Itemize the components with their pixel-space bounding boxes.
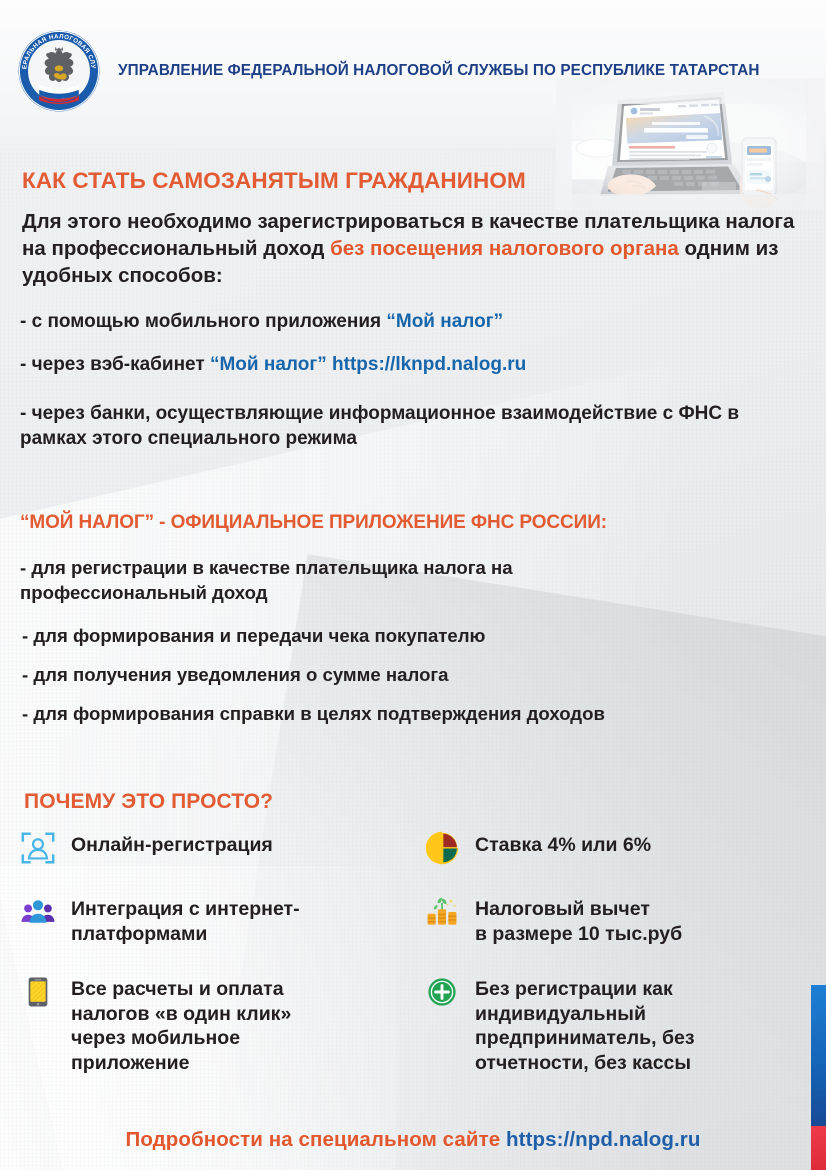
green-plus-icon xyxy=(422,972,462,1012)
benefit-line: через мобильное xyxy=(71,1026,291,1051)
benefits-row: Онлайн-регистрация Ставка xyxy=(18,828,810,892)
benefit-line: индивидуальный xyxy=(475,1002,695,1027)
benefit-line: Интеграция с интернет- xyxy=(71,897,300,922)
benefit-no-ip-registration: Без регистрации как индивидуальный предп… xyxy=(422,972,810,1092)
benefit-line: отчетности, без кассы xyxy=(475,1051,695,1076)
benefit-line: налогов «в один клик» xyxy=(71,1002,291,1027)
content: КАК СТАТЬ САМОЗАНЯТЫМ ГРАЖДАНИНОМ Для эт… xyxy=(0,0,826,1170)
benefit-text: Налоговый вычет в размере 10 тыс.руб xyxy=(475,892,682,946)
benefit-line: предприниматель, без xyxy=(475,1026,695,1051)
benefit-line: платформами xyxy=(71,922,300,947)
benefit-text: Без регистрации как индивидуальный предп… xyxy=(475,972,695,1075)
app-feature-notification: - для получения уведомления о сумме нало… xyxy=(22,663,808,688)
lead-highlight: без посещения налогового органа xyxy=(330,237,679,260)
app-section-title: “МОЙ НАЛОГ” - ОФИЦИАЛЬНОЕ ПРИЛОЖЕНИЕ ФНС… xyxy=(20,512,607,534)
page-title: КАК СТАТЬ САМОЗАНЯТЫМ ГРАЖДАНИНОМ xyxy=(22,168,526,194)
benefit-text: Онлайн-регистрация xyxy=(71,828,273,858)
footer-url[interactable]: https://npd.nalog.ru xyxy=(506,1128,700,1151)
money-growth-icon xyxy=(422,892,462,932)
method-item-mobile-app: - с помощью мобильного приложения “Мой н… xyxy=(20,310,810,335)
benefit-text: Ставка 4% или 6% xyxy=(475,828,651,858)
footer: Подробности на специальном сайте https:/… xyxy=(0,1128,826,1152)
method-item-web-cabinet: - через вэб-кабинет “Мой налог” https://… xyxy=(20,353,810,378)
pie-chart-icon xyxy=(422,828,462,868)
benefit-line: Ставка 4% или 6% xyxy=(475,833,651,858)
lead-paragraph: Для этого необходимо зарегистрироваться … xyxy=(22,208,810,289)
benefits-row: Все расчеты и оплата налогов «в один кли… xyxy=(18,972,810,1092)
method-link[interactable]: “Мой налог” xyxy=(386,311,503,332)
app-feature-certificate: - для формирования справки в целях подтв… xyxy=(22,702,808,727)
benefit-line: приложение xyxy=(71,1051,291,1076)
benefits-row: Интеграция с интернет- платформами xyxy=(18,892,810,972)
method-text: - с помощью мобильного приложения xyxy=(20,311,386,332)
smartphone-icon xyxy=(18,972,58,1012)
method-text: - через вэб-кабинет xyxy=(20,354,210,375)
benefit-tax-deduction: Налоговый вычет в размере 10 тыс.руб xyxy=(422,892,810,972)
app-feature-line1: - для регистрации в качестве плательщика… xyxy=(20,556,806,581)
benefit-line: Онлайн-регистрация xyxy=(71,833,273,858)
app-feature-receipt: - для формирования и передачи чека покуп… xyxy=(22,624,808,649)
benefit-online-registration: Онлайн-регистрация xyxy=(18,828,422,892)
method-item-banks: - через банки, осуществляющие информацио… xyxy=(20,402,810,451)
benefit-text: Интеграция с интернет- платформами xyxy=(71,892,300,946)
app-feature-line2: профессиональный доход xyxy=(20,581,806,606)
benefit-tax-rate: Ставка 4% или 6% xyxy=(422,828,810,892)
why-section-title: ПОЧЕМУ ЭТО ПРОСТО? xyxy=(24,790,273,814)
poster-root: ФЕДЕРАЛЬНАЯ НАЛОГОВАЯ СЛУЖБА xyxy=(0,0,826,1170)
benefit-line: Без регистрации как xyxy=(475,977,695,1002)
benefit-text: Все расчеты и оплата налогов «в один кли… xyxy=(71,972,291,1075)
method-link-lknpd[interactable]: “Мой налог” https://lknpd.nalog.ru xyxy=(210,354,526,375)
benefit-line: Все расчеты и оплата xyxy=(71,977,291,1002)
benefit-line: в размере 10 тыс.руб xyxy=(475,922,682,947)
benefit-line: Налоговый вычет xyxy=(475,897,682,922)
benefit-one-click-payment: Все расчеты и оплата налогов «в один кли… xyxy=(18,972,422,1092)
benefit-platform-integration: Интеграция с интернет- платформами xyxy=(18,892,422,972)
online-registration-icon xyxy=(18,828,58,868)
method-text: - через банки, осуществляющие информацио… xyxy=(20,403,739,449)
app-feature-registration: - для регистрации в качестве плательщика… xyxy=(20,556,806,605)
footer-text: Подробности на специальном сайте xyxy=(125,1128,506,1151)
people-group-icon xyxy=(18,892,58,932)
benefits-grid: Онлайн-регистрация Ставка xyxy=(18,828,810,1092)
